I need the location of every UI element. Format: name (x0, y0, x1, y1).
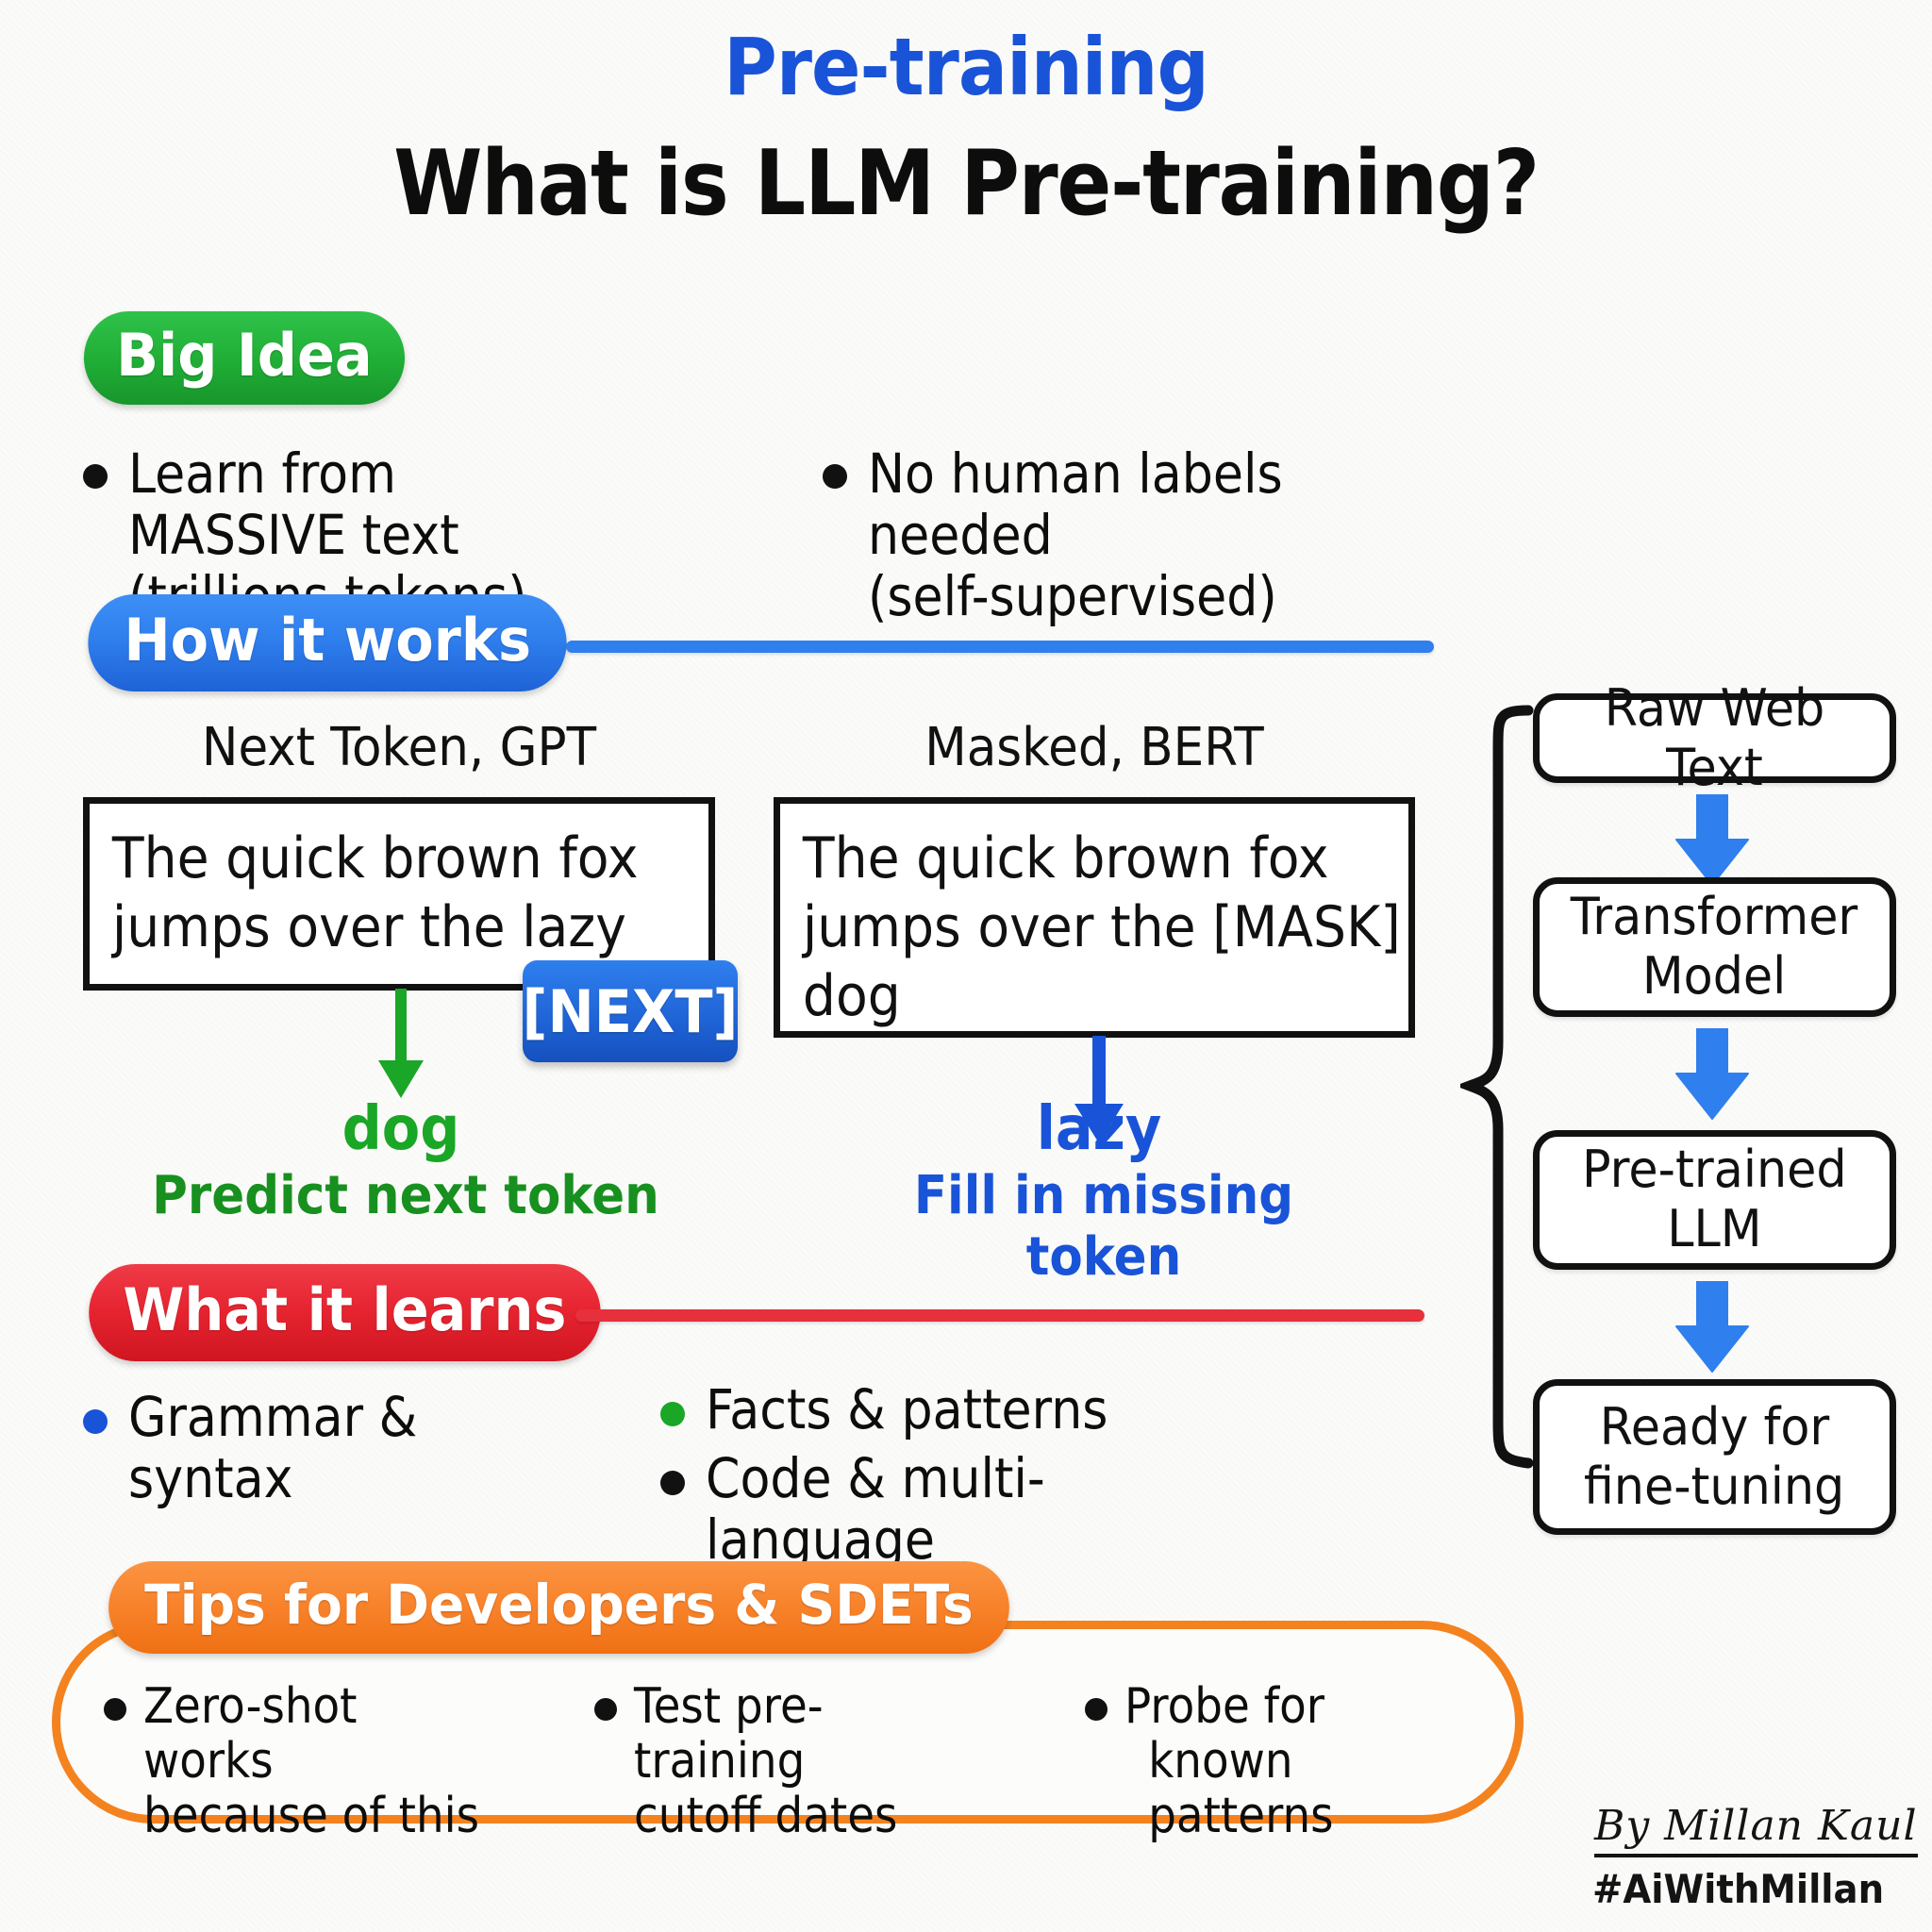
pipeline-step-2-line1: Transformer (1571, 888, 1858, 947)
author-handle: #AiWithMillan (1592, 1866, 1884, 1912)
output-word-gpt: dog (206, 1094, 596, 1164)
output-word-bert: lazy (904, 1094, 1294, 1164)
bullet-line-1: Probe for (1124, 1679, 1479, 1734)
list-item: Grammar & syntax (83, 1387, 611, 1509)
example-text-gpt: The quick brown fox jumps over the lazy (90, 804, 746, 962)
bullet-line-1: Learn from MASSIVE text (128, 443, 614, 566)
section-rule-how-it-works (566, 641, 1434, 653)
list-item: Test pre-training cutoff dates (594, 1679, 1028, 1844)
bullet-label: Grammar & syntax (128, 1387, 563, 1509)
bullet-dot-icon (83, 464, 108, 489)
list-item: Code & multi-language (660, 1448, 1321, 1571)
bullet-line-2: because of this (143, 1789, 481, 1843)
bullet-dot-icon (660, 1471, 685, 1495)
list-item: Probe for known patterns (1085, 1679, 1519, 1844)
column-heading-bert: Masked, BERT (799, 717, 1390, 778)
eyebrow-title: Pre-training (77, 21, 1855, 113)
pipeline-step-2: Transformer Model (1533, 877, 1896, 1017)
author-signature: By Millan Kaul (1594, 1802, 1918, 1857)
bullet-dot-icon (660, 1402, 685, 1426)
section-pill-what-it-learns[interactable]: What it learns (89, 1264, 600, 1361)
bullet-line-1: Zero-shot works (143, 1679, 481, 1789)
bullet-dot-icon (1085, 1698, 1108, 1721)
down-arrow-icon (1665, 794, 1759, 889)
pipeline-step-4-line2: fine-tuning (1584, 1457, 1844, 1517)
section-pill-how-it-works[interactable]: How it works (88, 594, 567, 691)
output-caption-bert: Fill in missing token (835, 1165, 1373, 1288)
section-pill-big-idea[interactable]: Big Idea (84, 311, 405, 405)
bullet-line-2: cutoff dates (634, 1789, 989, 1843)
bullet-label: Code & multi-language (706, 1448, 1259, 1571)
pipeline-step-1: Raw Web Text (1533, 693, 1896, 783)
bullet-line-1: No human labels needed (868, 443, 1354, 566)
section-rule-what-it-learns (575, 1309, 1424, 1322)
pipeline-step-4-line1: Ready for (1600, 1398, 1830, 1457)
curly-brace-icon (1460, 703, 1536, 1472)
list-item: No human labels needed (self-supervised) (823, 443, 1407, 627)
output-caption-gpt: Predict next token (128, 1165, 684, 1226)
example-box-bert: The quick brown fox jumps over the [MASK… (774, 797, 1415, 1038)
section-pill-tips[interactable]: Tips for Developers & SDETs (108, 1561, 1009, 1654)
next-token-badge[interactable]: [NEXT] (523, 960, 738, 1062)
bullet-dot-icon (823, 464, 847, 489)
pipeline-step-3-line2: LLM (1667, 1200, 1761, 1259)
bullet-line-2: known patterns (1124, 1734, 1479, 1843)
pipeline-step-4: Ready for fine-tuning (1533, 1379, 1896, 1535)
pipeline-step-2-line2: Model (1642, 947, 1786, 1007)
bullet-dot-icon (104, 1698, 126, 1721)
down-arrow-icon (1665, 1028, 1759, 1123)
pipeline-step-3: Pre-trained LLM (1533, 1130, 1896, 1270)
bullet-dot-icon (83, 1409, 108, 1434)
list-item: Zero-shot works because of this (104, 1679, 519, 1844)
down-arrow-icon (1665, 1281, 1759, 1375)
list-item: Facts & patterns (660, 1379, 1245, 1441)
pipeline-step-3-line1: Pre-trained (1582, 1141, 1847, 1200)
bullet-line-1: Test pre-training (634, 1679, 989, 1789)
bullet-dot-icon (594, 1698, 617, 1721)
bullet-label: Facts & patterns (706, 1379, 1108, 1441)
bullet-line-2: (self-supervised) (868, 566, 1354, 627)
pipeline-step-1-line1: Raw Web Text (1550, 679, 1879, 797)
page-title: What is LLM Pre-training? (96, 132, 1835, 236)
column-heading-gpt: Next Token, GPT (108, 717, 690, 778)
down-arrow-icon (368, 989, 434, 1102)
example-text-bert: The quick brown fox jumps over the [MASK… (780, 804, 1445, 1032)
